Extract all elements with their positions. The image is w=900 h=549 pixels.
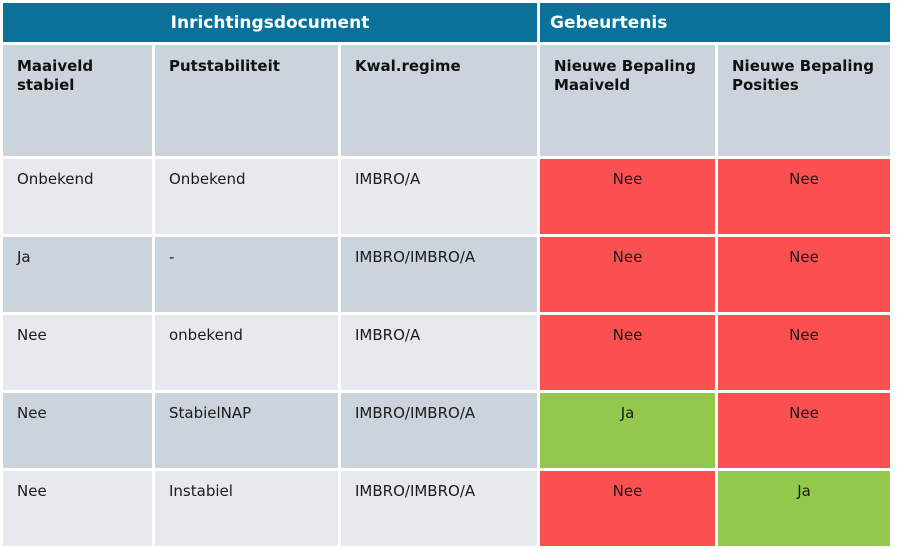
column-header-putstabiliteit: Putstabiliteit <box>155 45 338 156</box>
table-body: Onbekend Onbekend IMBRO/A Nee Nee Ja - I… <box>3 159 890 546</box>
cell-maaiveld-stabiel: Nee <box>3 315 152 390</box>
table-row: Nee onbekend IMBRO/A Nee Nee <box>3 315 890 390</box>
group-header-row: Inrichtingsdocument Gebeurtenis <box>3 3 890 42</box>
cell-nieuwe-bepaling-maaiveld: Nee <box>540 471 715 546</box>
column-header-nieuwe-bepaling-posities: Nieuwe Bepaling Posities <box>718 45 890 156</box>
table-row: Ja - IMBRO/IMBRO/A Nee Nee <box>3 237 890 312</box>
cell-putstabiliteit: Onbekend <box>155 159 338 234</box>
column-header-nieuwe-bepaling-maaiveld: Nieuwe Bepaling Maaiveld <box>540 45 715 156</box>
cell-nieuwe-bepaling-posities: Nee <box>718 237 890 312</box>
cell-maaiveld-stabiel: Nee <box>3 471 152 546</box>
table-row: Nee Instabiel IMBRO/IMBRO/A Nee Ja <box>3 471 890 546</box>
cell-maaiveld-stabiel: Nee <box>3 393 152 468</box>
cell-nieuwe-bepaling-posities: Nee <box>718 393 890 468</box>
cell-nieuwe-bepaling-maaiveld: Nee <box>540 159 715 234</box>
cell-nieuwe-bepaling-posities: Nee <box>718 159 890 234</box>
cell-kwal-regime: IMBRO/A <box>341 315 537 390</box>
column-header-kwal-regime: Kwal.regime <box>341 45 537 156</box>
cell-nieuwe-bepaling-maaiveld: Nee <box>540 315 715 390</box>
group-header-inrichtingsdocument: Inrichtingsdocument <box>3 3 537 42</box>
cell-kwal-regime: IMBRO/A <box>341 159 537 234</box>
cell-nieuwe-bepaling-posities: Ja <box>718 471 890 546</box>
group-header-gebeurtenis: Gebeurtenis <box>540 3 890 42</box>
column-header-row: Maaiveld stabiel Putstabiliteit Kwal.reg… <box>3 45 890 156</box>
column-header-maaiveld-stabiel: Maaiveld stabiel <box>3 45 152 156</box>
decision-table-container: Inrichtingsdocument Gebeurtenis Maaiveld… <box>0 0 893 443</box>
table-header: Inrichtingsdocument Gebeurtenis Maaiveld… <box>3 3 890 156</box>
cell-kwal-regime: IMBRO/IMBRO/A <box>341 471 537 546</box>
table-row: Onbekend Onbekend IMBRO/A Nee Nee <box>3 159 890 234</box>
cell-maaiveld-stabiel: Onbekend <box>3 159 152 234</box>
cell-putstabiliteit: StabielNAP <box>155 393 338 468</box>
cell-nieuwe-bepaling-posities: Nee <box>718 315 890 390</box>
cell-putstabiliteit: Instabiel <box>155 471 338 546</box>
cell-putstabiliteit: - <box>155 237 338 312</box>
cell-nieuwe-bepaling-maaiveld: Nee <box>540 237 715 312</box>
cell-putstabiliteit: onbekend <box>155 315 338 390</box>
cell-maaiveld-stabiel: Ja <box>3 237 152 312</box>
cell-kwal-regime: IMBRO/IMBRO/A <box>341 393 537 468</box>
decision-table: Inrichtingsdocument Gebeurtenis Maaiveld… <box>0 0 893 549</box>
cell-kwal-regime: IMBRO/IMBRO/A <box>341 237 537 312</box>
cell-nieuwe-bepaling-maaiveld: Ja <box>540 393 715 468</box>
table-row: Nee StabielNAP IMBRO/IMBRO/A Ja Nee <box>3 393 890 468</box>
